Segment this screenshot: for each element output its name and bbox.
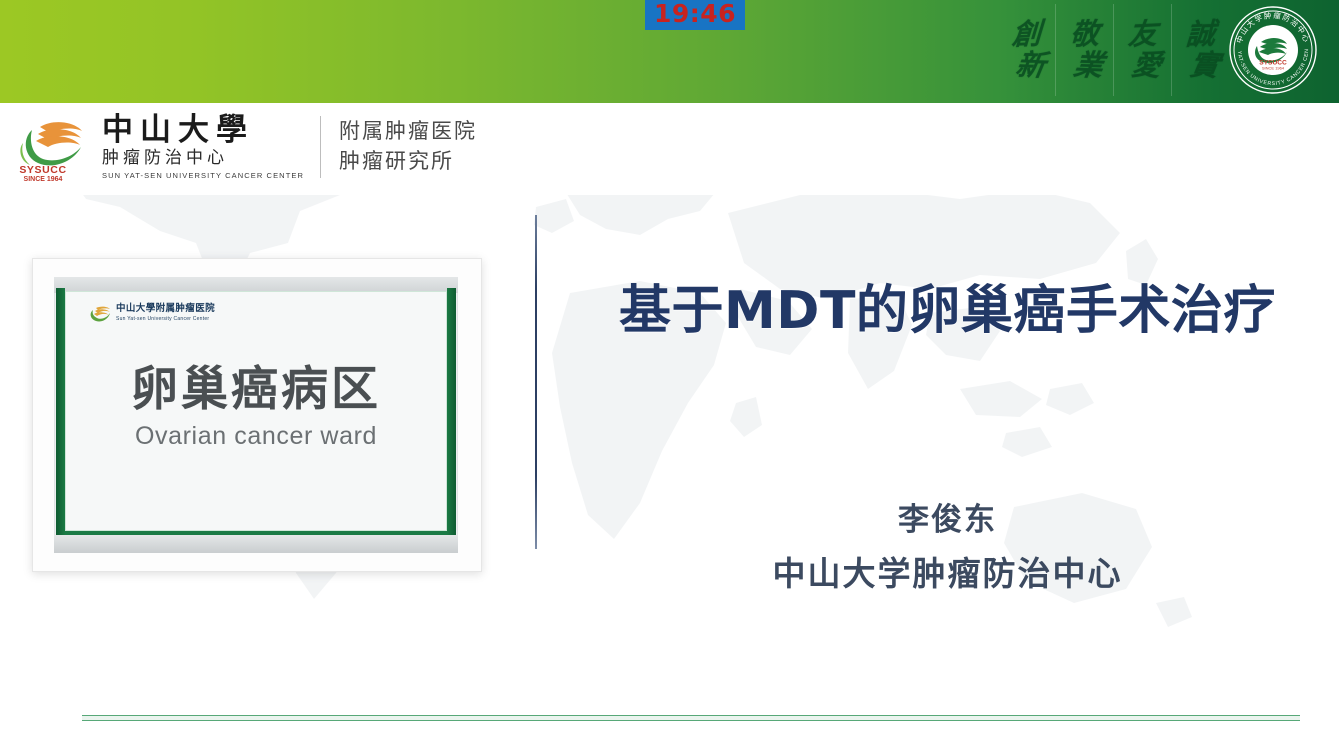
presenter-name: 李俊东: [560, 503, 1335, 537]
motto-char-ye: 業: [1072, 51, 1105, 80]
sign-face: 中山大學附属肿瘤医院 Sun Yat-sen University Cancer…: [65, 291, 447, 531]
page-title: 基于MDT的卵巢癌手术治疗: [560, 282, 1335, 340]
footer-rule: [82, 715, 1300, 721]
affiliation-institute: 肿瘤研究所: [339, 147, 477, 177]
motto-calligraphy: 創 新 敬 業 友 愛 誠 實: [998, 4, 1229, 96]
title-slide: 創 新 敬 業 友 愛 誠 實: [0, 0, 1339, 754]
motto-char-xin: 新: [1014, 51, 1047, 80]
motto-char-jing: 敬: [1069, 20, 1100, 49]
sign-right-post: [447, 288, 456, 546]
cancer-center-name-en: SUN YAT-SEN UNIVERSITY CANCER CENTER: [102, 171, 304, 180]
motto-column-1: 創 新: [998, 4, 1056, 96]
affiliation-block: 附属肿瘤医院 肿瘤研究所: [339, 117, 477, 177]
motto-char-cheng: 誠: [1185, 20, 1216, 49]
motto-char-shi: 實: [1188, 51, 1221, 80]
svg-text:SYSUCC: SYSUCC: [19, 164, 66, 176]
university-name-cn: 中山大學: [102, 114, 304, 147]
motto-char-ai: 愛: [1130, 51, 1163, 80]
ward-sign-board: 中山大學附属肿瘤医院 Sun Yat-sen University Cancer…: [54, 277, 458, 553]
affiliation-hospital: 附属肿瘤医院: [339, 117, 477, 147]
motto-column-4: 誠 實: [1172, 4, 1229, 96]
sign-left-post: [56, 288, 65, 546]
hospital-identity-header: SYSUCC SINCE 1964 中山大學 肿瘤防治中心 SUN YAT-SE…: [0, 103, 1339, 195]
motto-char-you: 友: [1127, 20, 1158, 49]
svg-text:SINCE 1964: SINCE 1964: [1262, 66, 1285, 71]
presenter-affiliation: 中山大学肿瘤防治中心: [560, 556, 1335, 592]
university-name-block: 中山大學 肿瘤防治中心 SUN YAT-SEN UNIVERSITY CANCE…: [102, 114, 304, 181]
sign-logo-cn: 中山大學附属肿瘤医院: [116, 304, 215, 314]
title-vertical-rule: [535, 215, 537, 549]
ward-sign-photo: 中山大學附属肿瘤医院 Sun Yat-sen University Cancer…: [32, 258, 482, 572]
sign-title-cn: 卵巢癌病区: [66, 366, 446, 413]
sysucc-logo-icon: SYSUCC SINCE 1964: [10, 111, 98, 183]
sign-hospital-logo: 中山大學附属肿瘤医院 Sun Yat-sen University Cancer…: [88, 304, 215, 322]
sign-title-en: Ovarian cancer ward: [66, 424, 446, 449]
cancer-center-name-cn: 肿瘤防治中心: [102, 148, 304, 169]
sysucc-circular-emblem-icon: 中山大学肿瘤防治中心 SUN YAT-SEN UNIVERSITY CANCER…: [1229, 6, 1317, 94]
sign-logo-en: Sun Yat-sen University Cancer Center: [116, 316, 215, 322]
header-divider: [320, 116, 321, 178]
sign-bottom-rail: [54, 535, 458, 553]
motto-column-3: 友 愛: [1114, 4, 1172, 96]
svg-text:SINCE 1964: SINCE 1964: [24, 176, 63, 183]
motto-column-2: 敬 業: [1056, 4, 1114, 96]
motto-char-chuang: 創: [1011, 20, 1042, 49]
timestamp-overlay: 19:46: [645, 0, 745, 30]
